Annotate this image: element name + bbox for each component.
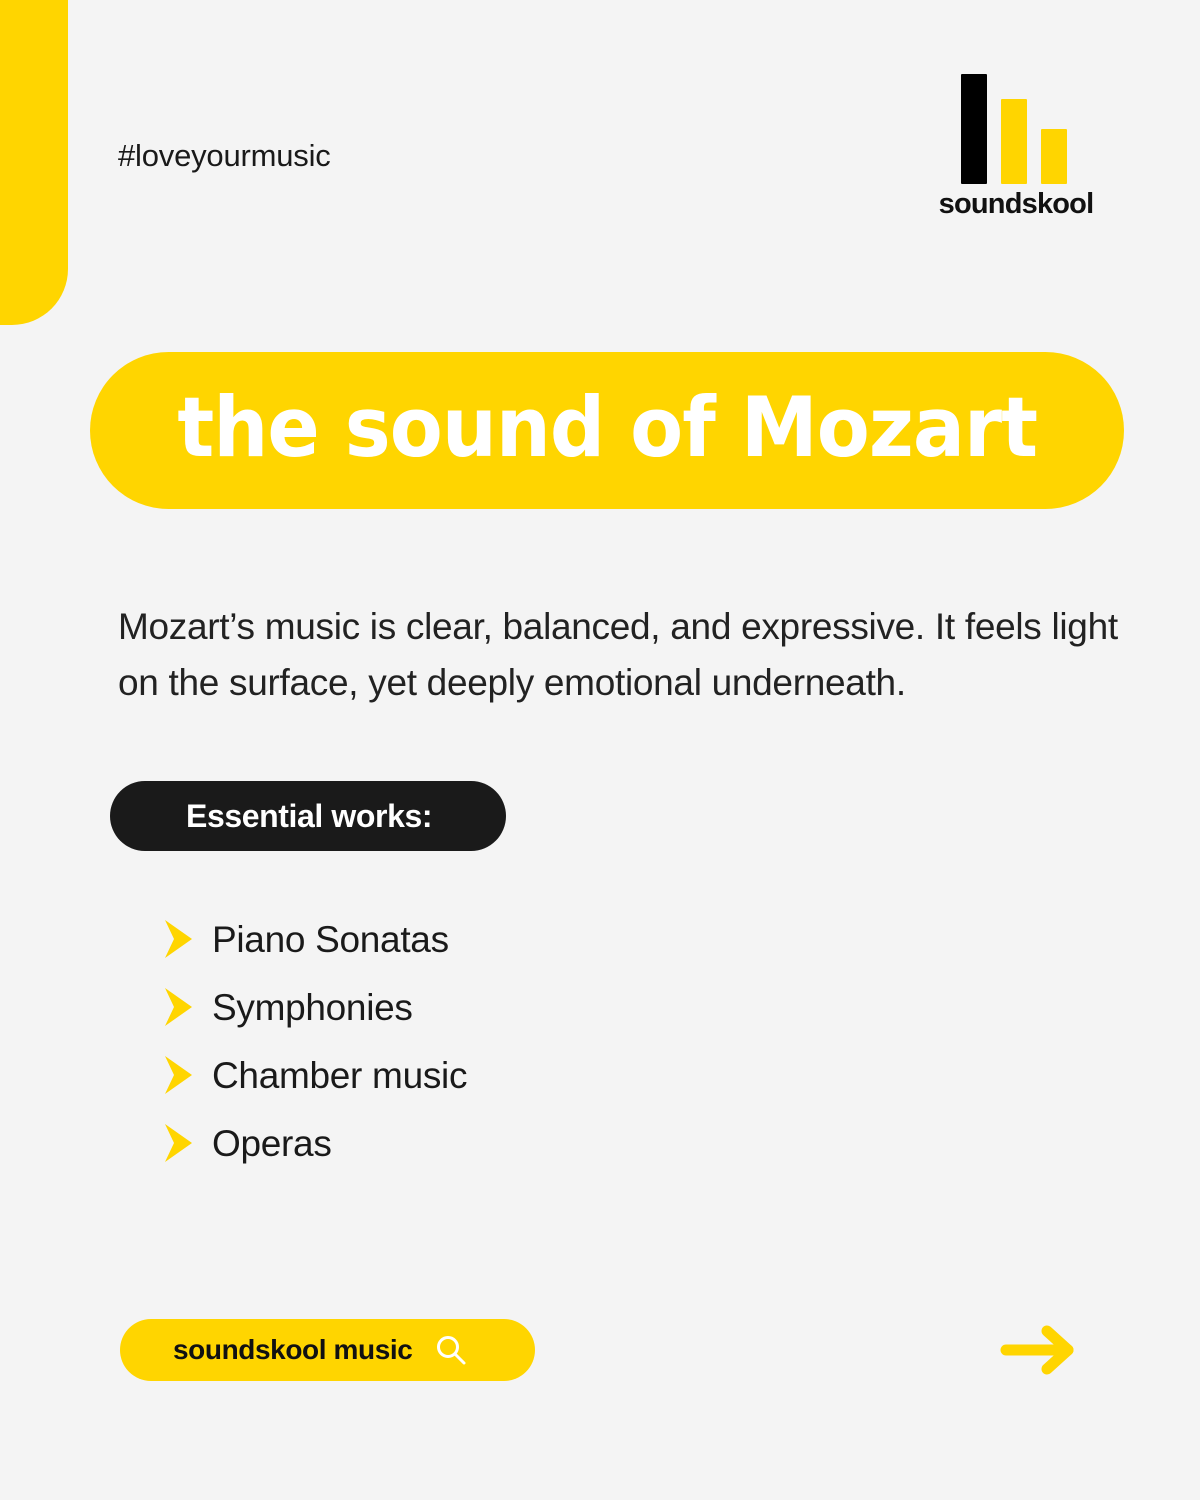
soundskool-logo: soundskool bbox=[930, 72, 1102, 227]
title-banner: the sound of Mozart bbox=[90, 352, 1124, 509]
search-cta-button[interactable]: soundskool music bbox=[120, 1319, 535, 1381]
search-cta-label: soundskool music bbox=[173, 1336, 412, 1364]
list-item-label: Operas bbox=[212, 1125, 332, 1162]
list-item: Chamber music bbox=[163, 1041, 863, 1109]
hashtag-label: #loveyourmusic bbox=[118, 140, 331, 171]
search-icon bbox=[434, 1333, 468, 1367]
chevron-right-icon bbox=[163, 987, 193, 1027]
list-item: Symphonies bbox=[163, 973, 863, 1041]
logo-bars-icon bbox=[930, 72, 1102, 184]
logo-bar-tall-icon bbox=[961, 74, 987, 184]
page-title: the sound of Mozart bbox=[177, 386, 1037, 469]
decorative-left-tab bbox=[0, 0, 68, 325]
essential-works-heading-pill: Essential works: bbox=[110, 781, 506, 851]
chevron-right-icon bbox=[163, 1055, 193, 1095]
list-item: Piano Sonatas bbox=[163, 905, 863, 973]
arrow-right-icon[interactable] bbox=[1000, 1323, 1080, 1377]
list-item: Operas bbox=[163, 1109, 863, 1177]
logo-bar-short-icon bbox=[1041, 129, 1067, 184]
chevron-right-icon bbox=[163, 919, 193, 959]
logo-bar-medium-icon bbox=[1001, 99, 1027, 184]
list-item-label: Piano Sonatas bbox=[212, 921, 449, 958]
essential-works-list: Piano Sonatas Symphonies Chamber music O… bbox=[163, 905, 863, 1177]
list-item-label: Symphonies bbox=[212, 989, 413, 1026]
body-paragraph: Mozart’s music is clear, balanced, and e… bbox=[118, 599, 1118, 711]
essential-works-heading-label: Essential works: bbox=[186, 800, 432, 832]
chevron-right-icon bbox=[163, 1123, 193, 1163]
list-item-label: Chamber music bbox=[212, 1057, 467, 1094]
logo-wordmark: soundskool bbox=[930, 190, 1102, 219]
